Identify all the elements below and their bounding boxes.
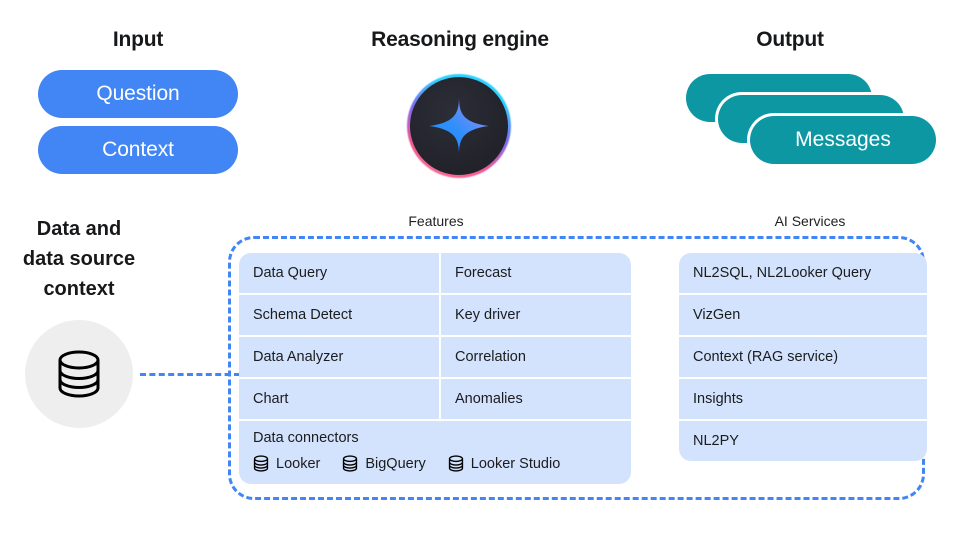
ai-service-insights[interactable]: Insights	[679, 379, 927, 419]
output-pill-front-label: Messages	[795, 128, 891, 152]
input-pill-context-label: Context	[102, 138, 174, 162]
diagram-canvas: Input Question Context Reasoning engine …	[0, 0, 960, 540]
connector-looker[interactable]: Looker	[253, 455, 320, 472]
data-source-title-line3: context	[0, 278, 158, 301]
reasoning-column-title: Reasoning engine	[340, 28, 580, 52]
features-cell-forecast[interactable]: Forecast	[441, 253, 631, 293]
ai-service-nl2py[interactable]: NL2PY	[679, 421, 927, 461]
connector-bigquery[interactable]: BigQuery	[342, 455, 425, 472]
ai-services-label: AI Services	[740, 213, 880, 229]
database-icon	[253, 455, 269, 472]
features-cell-data-analyzer[interactable]: Data Analyzer	[239, 337, 439, 377]
ai-service-context-rag[interactable]: Context (RAG service)	[679, 337, 927, 377]
output-column-title: Output	[690, 28, 890, 52]
data-source-icon-circle[interactable]	[25, 320, 133, 428]
input-pill-question-label: Question	[96, 82, 179, 106]
features-cell-schema-detect[interactable]: Schema Detect	[239, 295, 439, 335]
connector-looker-label: Looker	[276, 456, 320, 472]
connector-looker-studio[interactable]: Looker Studio	[448, 455, 560, 472]
features-cell-data-connectors: Data connectors Looker	[239, 421, 631, 484]
reasoning-engine-orb	[407, 74, 511, 178]
database-icon	[56, 349, 102, 399]
gemini-sparkle-icon	[428, 95, 490, 157]
connector-bigquery-label: BigQuery	[365, 456, 425, 472]
data-source-connector-line	[140, 373, 240, 376]
ai-services-table: NL2SQL, NL2Looker Query VizGen Context (…	[679, 253, 927, 461]
data-source-title-line2: data source	[0, 248, 158, 271]
ai-service-vizgen[interactable]: VizGen	[679, 295, 927, 335]
features-label: Features	[366, 213, 506, 229]
features-cell-anomalies[interactable]: Anomalies	[441, 379, 631, 419]
ai-service-nl2sql[interactable]: NL2SQL, NL2Looker Query	[679, 253, 927, 293]
features-table: Data Query Forecast Schema Detect Key dr…	[239, 253, 631, 484]
features-cell-correlation[interactable]: Correlation	[441, 337, 631, 377]
data-connectors-row: Looker BigQuery	[253, 455, 617, 472]
features-cell-key-driver[interactable]: Key driver	[441, 295, 631, 335]
input-pill-question[interactable]: Question	[38, 70, 238, 118]
connector-looker-studio-label: Looker Studio	[471, 456, 560, 472]
output-pill-front[interactable]: Messages	[750, 116, 936, 164]
database-icon	[342, 455, 358, 472]
data-source-title-line1: Data and	[0, 218, 158, 241]
input-column-title: Input	[58, 28, 218, 52]
features-cell-chart[interactable]: Chart	[239, 379, 439, 419]
input-pill-context[interactable]: Context	[38, 126, 238, 174]
features-cell-data-query[interactable]: Data Query	[239, 253, 439, 293]
database-icon	[448, 455, 464, 472]
data-connectors-title: Data connectors	[253, 430, 617, 446]
